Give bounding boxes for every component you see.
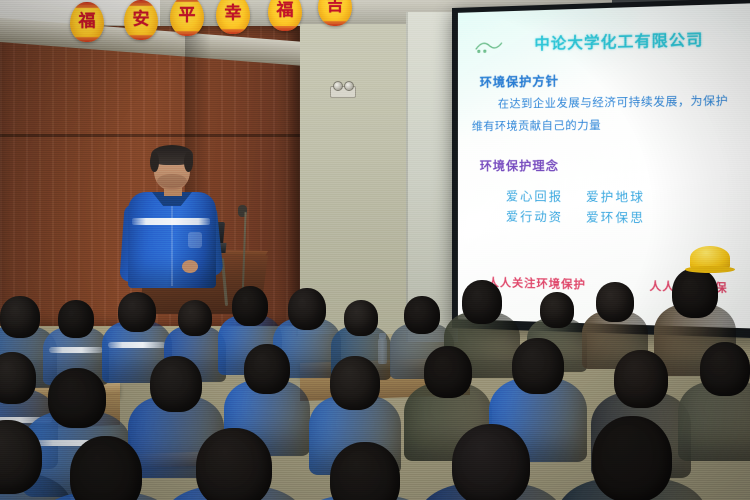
yellow-hard-hat-icon (690, 246, 730, 270)
presenter-hair-side-left (150, 152, 159, 172)
lantern-glyph: 平 (170, 8, 204, 25)
audience-member-head (244, 344, 290, 394)
lantern-6: 吉 (318, 0, 352, 26)
presenter-jacket-pocket (188, 232, 202, 248)
audience-member-head (0, 296, 40, 338)
lantern-4: 幸 (216, 0, 250, 34)
audience-member-head (118, 292, 156, 332)
audience-member-head (150, 356, 202, 412)
slide-heading-policy: 环境保护方针 (480, 68, 748, 90)
lantern-glyph: 福 (268, 3, 302, 20)
meeting-hall-photo: 福安平幸福吉 中论大学化工有限公司 环境保护方针 在达到企业发展与经济可持续发展… (0, 0, 750, 500)
audience-member-head (48, 368, 106, 428)
audience-member-head (404, 296, 440, 334)
presenter-hair-side-right (184, 152, 193, 172)
lantern-glyph: 幸 (216, 6, 250, 23)
audience-member-head (672, 268, 718, 318)
lantern-glyph: 安 (124, 12, 158, 29)
audience-member-head (178, 300, 212, 336)
presenter-face-shadow (157, 174, 187, 188)
audience-member-head (540, 292, 574, 328)
audience-member-head (614, 350, 668, 408)
slide-concept-4: 爱环保思 (586, 207, 669, 229)
audience-reflective-stripe (49, 347, 103, 353)
audience-member-head (462, 280, 502, 324)
slide-concept-3: 爱行动资 (506, 207, 586, 229)
presenter-jacket-zip (171, 206, 173, 286)
lantern-1: 福 (70, 2, 104, 42)
slide-body-line-2: 维有环境贡献自己的力量 (472, 117, 748, 135)
slide-title: 中论大学化工有限公司 (494, 27, 748, 55)
lantern-glyph: 吉 (318, 0, 352, 15)
wall-panel-center (296, 24, 420, 334)
audience-member-head (58, 300, 94, 338)
slide-footer-left: 人人关注环境保护 (488, 274, 586, 293)
lantern-glyph: 福 (70, 14, 104, 31)
audience-member-head (330, 356, 380, 410)
wall-panel-right (406, 12, 458, 342)
company-logo-icon (474, 38, 504, 55)
audience-member-head (512, 338, 564, 394)
audience-member-head (596, 282, 634, 322)
presenter (126, 148, 218, 288)
slide-concept-2: 爱护地球 (586, 186, 669, 208)
audience-member-head (288, 288, 326, 330)
audience-member-head (452, 424, 530, 500)
slide-concept-list: 爱心回报爱护地球爱行动资爱环保思 (506, 186, 748, 230)
slide-concept-1: 爱心回报 (506, 186, 586, 207)
audience-member-head (196, 428, 272, 500)
audience-member-head (70, 436, 142, 500)
lantern-3: 平 (170, 0, 204, 36)
audience-member-head (592, 416, 672, 500)
audience-member-head (424, 346, 472, 398)
audience-reflective-stripe (108, 342, 166, 348)
slide-body-line-1: 在达到企业发展与经济可持续发展，为保护 (472, 94, 748, 113)
lantern-2: 安 (124, 0, 158, 40)
slide-heading-concept: 环境保护理念 (480, 156, 748, 174)
presenter-hand (182, 260, 198, 273)
audience-member-head (344, 300, 378, 336)
wall-seam-2 (406, 12, 408, 342)
audience-member-head (232, 286, 268, 326)
lantern-5: 福 (268, 0, 302, 31)
emergency-exit-light-icon (330, 86, 356, 98)
audience-member-head (700, 342, 750, 396)
